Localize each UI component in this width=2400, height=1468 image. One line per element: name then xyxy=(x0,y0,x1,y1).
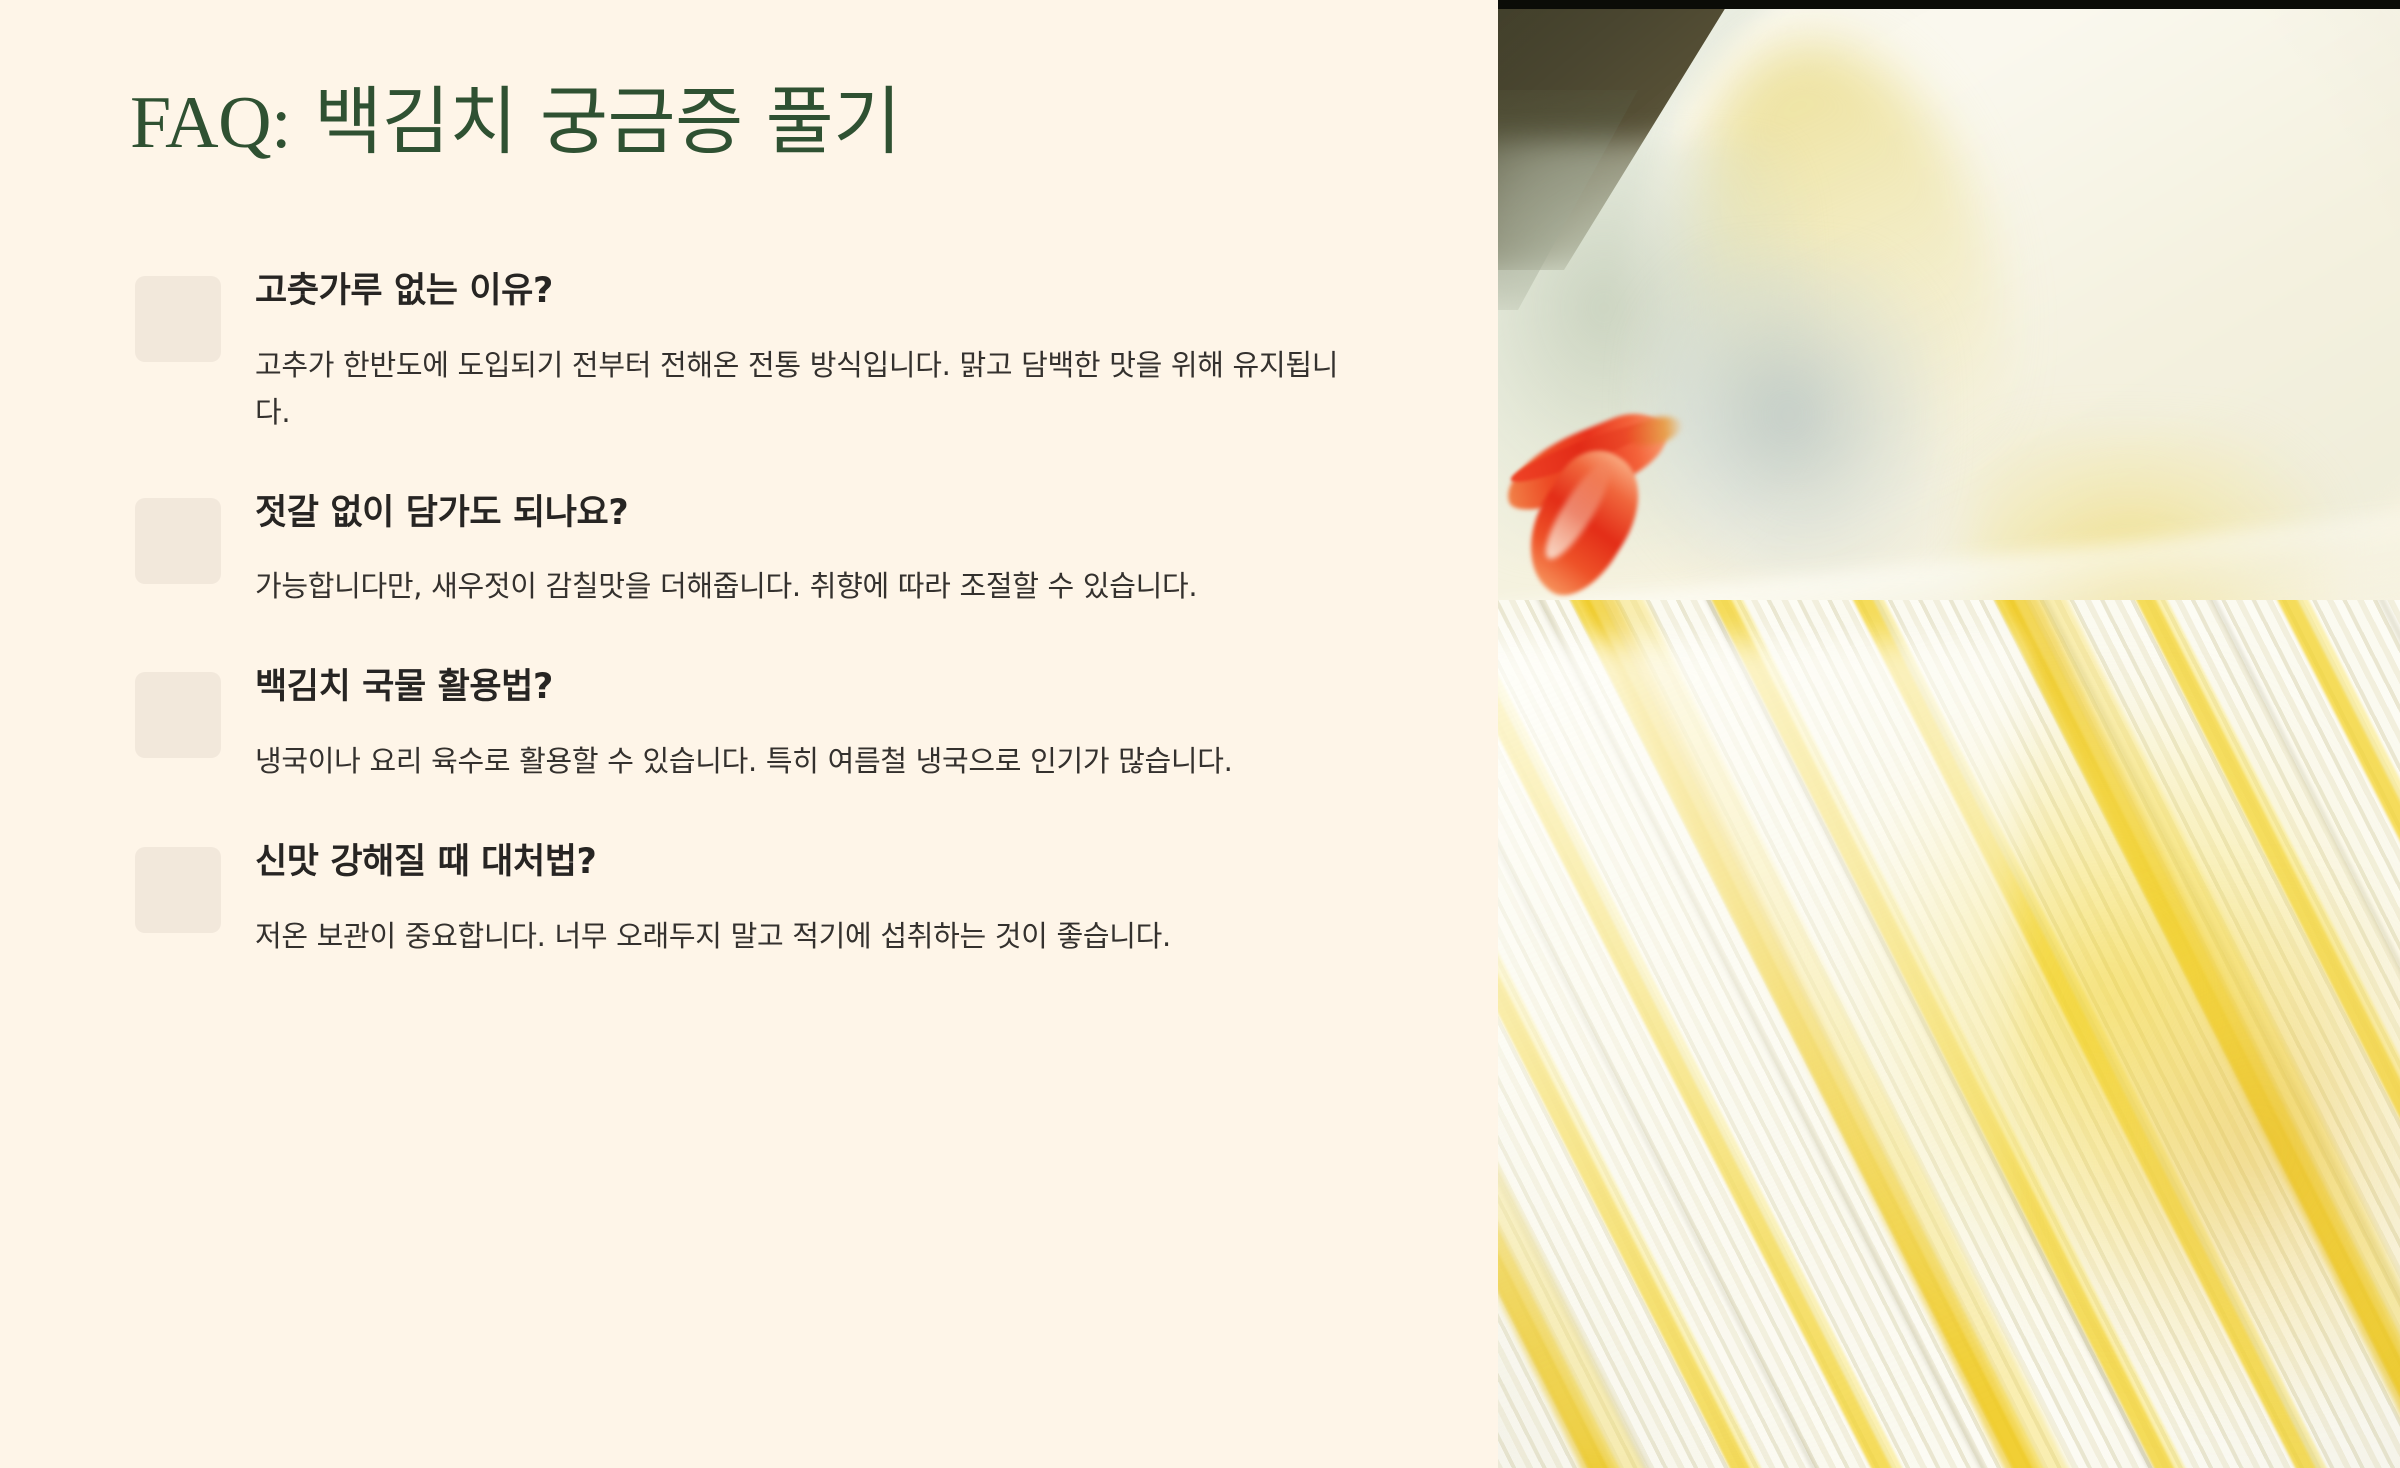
faq-marker-icon xyxy=(135,498,221,584)
cabbage-yellow-core xyxy=(2058,900,2400,1400)
photo-blue-blur xyxy=(1638,250,1938,580)
faq-answer: 고추가 한반도에 도입되기 전부터 전해온 전통 방식입니다. 맑고 담백한 맛… xyxy=(255,342,1370,436)
faq-question: 젓갈 없이 담가도 되나요? xyxy=(255,492,1425,536)
page-title-korean: 백김치 궁금증 풀기 xyxy=(314,79,901,165)
faq-answer: 저온 보관이 중요합니다. 너무 오래두지 말고 적기에 섭취하는 것이 좋습니… xyxy=(255,913,1370,960)
faq-item[interactable]: 백김치 국물 활용법? 냉국이나 요리 육수로 활용할 수 있습니다. 특히 여… xyxy=(135,666,1425,785)
faq-item[interactable]: 젓갈 없이 담가도 되나요? 가능합니다만, 새우젓이 감칠맛을 더해줍니다. … xyxy=(135,492,1425,611)
cabbage-photo xyxy=(1498,0,2400,1468)
faq-question: 신맛 강해질 때 대처법? xyxy=(255,841,1425,885)
faq-marker-icon xyxy=(135,276,221,362)
cabbage-white-highlight xyxy=(1498,640,2018,1460)
faq-list: 고춧가루 없는 이유? 고추가 한반도에 도입되기 전부터 전해온 전통 방식입… xyxy=(135,270,1425,960)
page-title: FAQ: 백김치 궁금증 풀기 xyxy=(130,84,901,163)
faq-question: 백김치 국물 활용법? xyxy=(255,666,1425,710)
faq-question: 고춧가루 없는 이유? xyxy=(255,270,1425,314)
faq-marker-icon xyxy=(135,847,221,933)
faq-item[interactable]: 고춧가루 없는 이유? 고추가 한반도에 도입되기 전부터 전해온 전통 방식입… xyxy=(135,270,1425,436)
photo-top-edge xyxy=(1498,0,2400,9)
content-panel: FAQ: 백김치 궁금증 풀기 고춧가루 없는 이유? 고추가 한반도에 도입되… xyxy=(0,0,1498,1468)
faq-answer: 가능합니다만, 새우젓이 감칠맛을 더해줍니다. 취향에 따라 조절할 수 있습… xyxy=(255,563,1370,610)
faq-marker-icon xyxy=(135,672,221,758)
page-title-latin: FAQ: xyxy=(130,82,291,164)
faq-answer: 냉국이나 요리 육수로 활용할 수 있습니다. 특히 여름철 냉국으로 인기가 … xyxy=(255,738,1370,785)
faq-slide: FAQ: 백김치 궁금증 풀기 고춧가루 없는 이유? 고추가 한반도에 도입되… xyxy=(0,0,2400,1468)
faq-item[interactable]: 신맛 강해질 때 대처법? 저온 보관이 중요합니다. 너무 오래두지 말고 적… xyxy=(135,841,1425,960)
